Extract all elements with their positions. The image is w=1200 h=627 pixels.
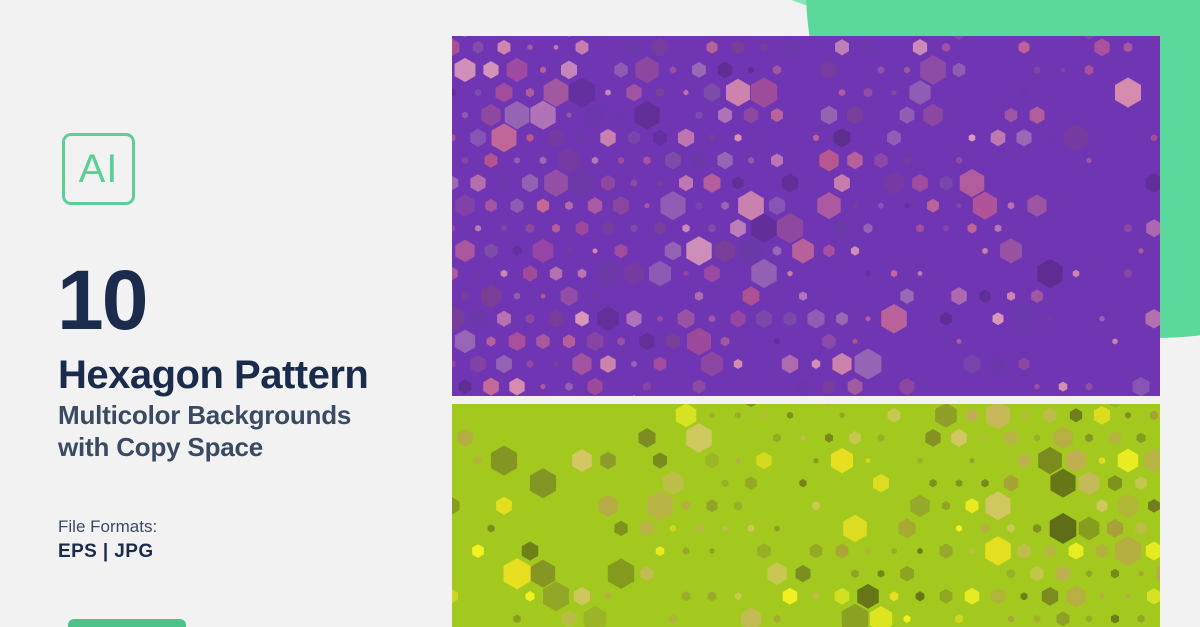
page-subtitle-line-1: Multicolor Backgrounds (58, 400, 351, 432)
purple-hexagon-svg (452, 36, 1160, 396)
file-formats-block: File Formats: EPS | JPG (58, 516, 157, 565)
preview-purple-hexagon-pattern (452, 36, 1160, 396)
file-formats-label: File Formats: (58, 516, 157, 539)
ai-format-badge-label: AI (79, 149, 119, 189)
preview-green-hexagon-pattern (452, 404, 1160, 627)
page-title: Hexagon Pattern (58, 355, 368, 395)
green-hexagon-svg (452, 404, 1160, 627)
info-panel: AI 10 Hexagon Pattern Multicolor Backgro… (0, 0, 452, 627)
page-subtitle-line-2: with Copy Space (58, 432, 351, 464)
promo-graphic-canvas: AI 10 Hexagon Pattern Multicolor Backgro… (0, 0, 1200, 627)
decorative-circle-light (596, 0, 1200, 22)
item-count: 10 (57, 258, 146, 342)
file-formats-value: EPS | JPG (58, 539, 157, 565)
page-subtitle: Multicolor Backgrounds with Copy Space (58, 400, 351, 463)
cta-button[interactable] (68, 619, 186, 627)
ai-format-badge: AI (62, 133, 135, 205)
